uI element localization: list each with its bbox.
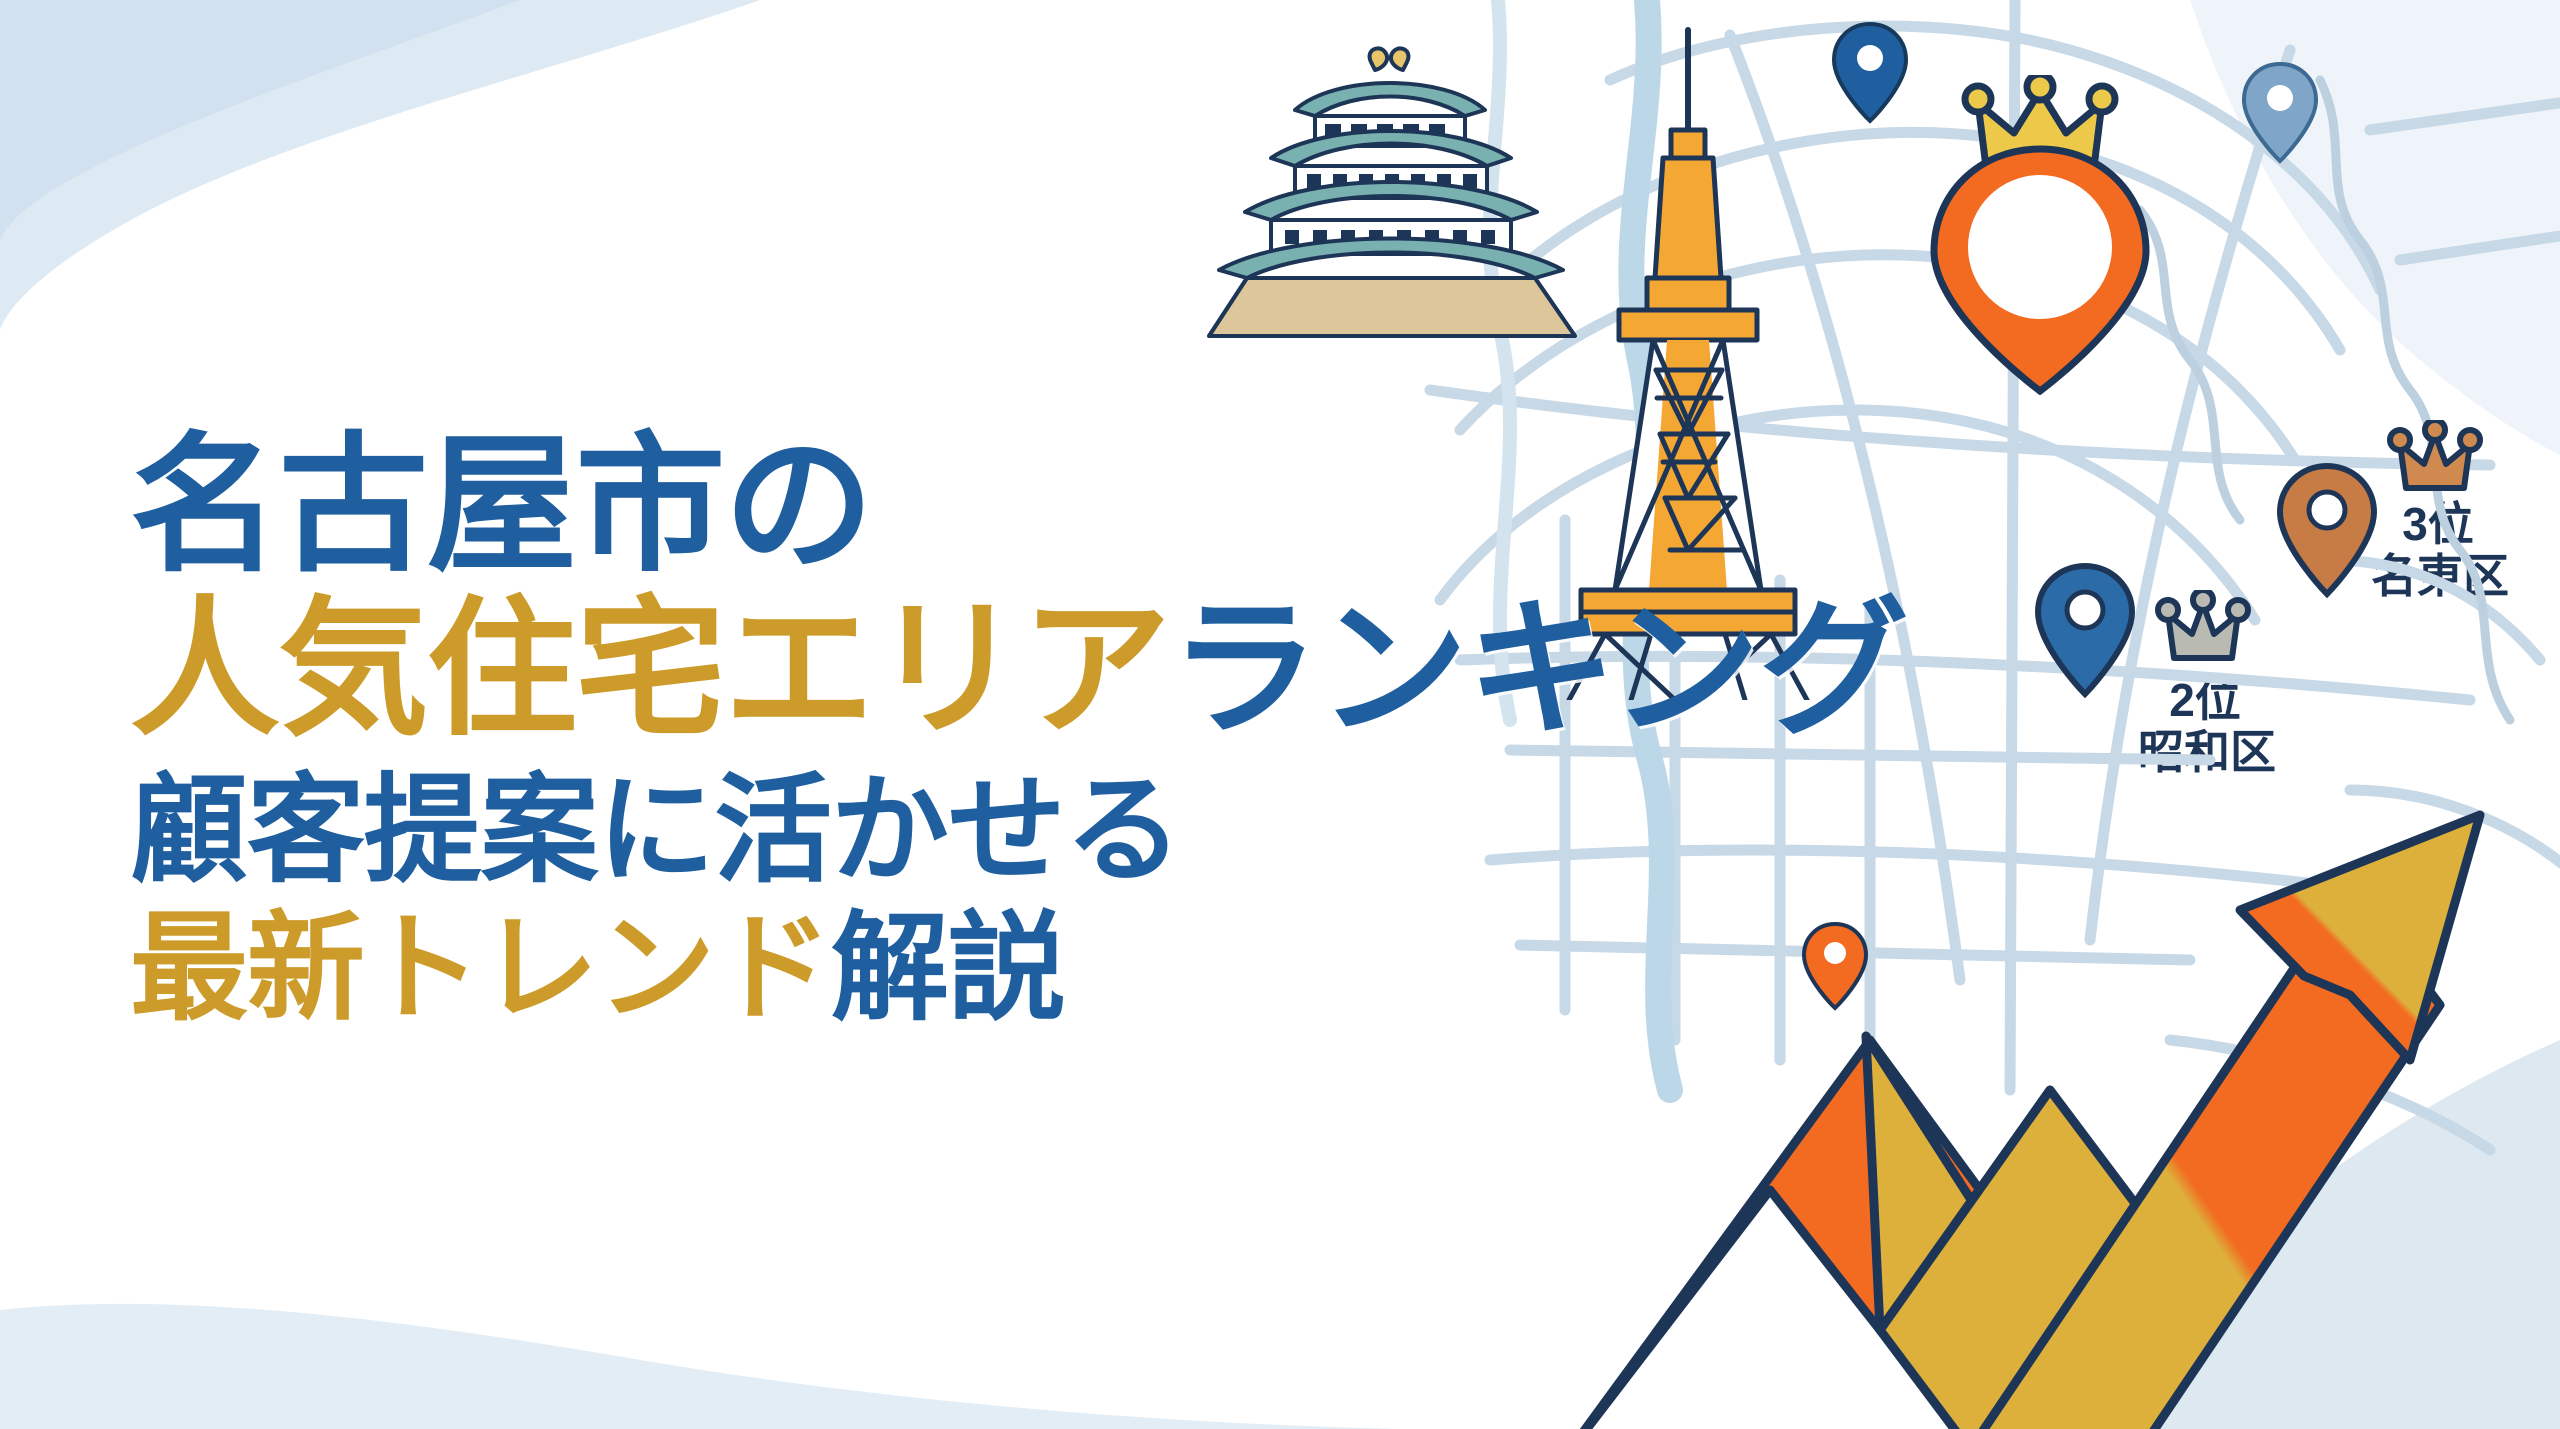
silver-crown-icon xyxy=(2148,590,2258,670)
nagoya-castle-icon xyxy=(1175,40,1595,340)
rising-trend-arrow-icon xyxy=(1580,790,2560,1429)
decor-pin-blue-top xyxy=(1830,20,1910,125)
decor-pin-blue-right xyxy=(2240,60,2320,165)
bronze-crown-icon xyxy=(2380,420,2490,500)
rank-3-pin[interactable] xyxy=(2272,460,2382,600)
headline-line-2: 人気住宅エリアランキング xyxy=(130,594,1430,744)
headline-line-2-gold: 人気住宅エリア xyxy=(130,585,1170,753)
headline-line-4-blue: 解説 xyxy=(831,903,1065,1035)
rank-1-pin[interactable] xyxy=(1920,75,2160,395)
headline-line-1: 名古屋市の xyxy=(130,430,1430,580)
headline-block: 名古屋市の 人気住宅エリアランキング 顧客提案に活かせる 最新トレンド解説 xyxy=(130,430,1430,1028)
headline-line-4-gold: 最新トレンド xyxy=(130,903,831,1035)
headline-line-3: 顧客提案に活かせる xyxy=(130,772,1430,890)
banner-canvas: 1位 千種区 2位 昭和区 xyxy=(0,0,2560,1429)
headline-line-4: 最新トレンド解説 xyxy=(130,910,1430,1028)
headline-line-2-blue: ランキング xyxy=(1170,585,1908,753)
rank-2-pin[interactable] xyxy=(2030,560,2140,700)
